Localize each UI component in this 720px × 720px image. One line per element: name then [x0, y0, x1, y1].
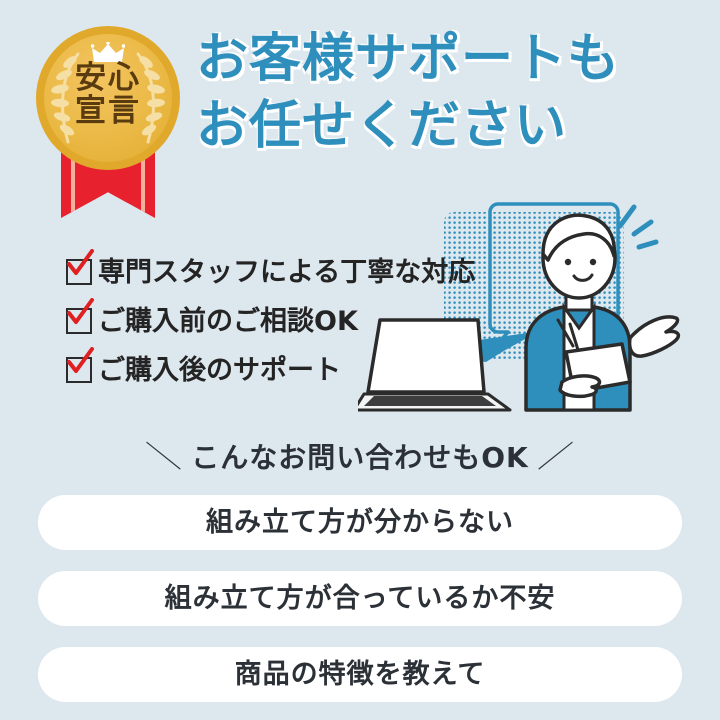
feature-checklist: 専門スタッフによる丁寧な対応 ご購入前のご相談OK ご購入後のサポート	[66, 250, 536, 397]
checklist-item-label: ご購入前のご相談OK	[98, 308, 358, 335]
checkbox-checked-icon	[66, 357, 92, 383]
list-item-label: 商品の特徴を教えて	[235, 661, 486, 688]
page-title: お客様サポートも お任せください	[196, 26, 708, 159]
checklist-item: 専門スタッフによる丁寧な対応	[66, 250, 536, 294]
badge-text: 安心 宣言	[36, 62, 180, 129]
list-item: 組み立て方が合っているか不安	[38, 571, 682, 626]
idea-sparkle-icon	[620, 207, 656, 247]
checkbox-checked-icon	[66, 259, 92, 285]
checklist-item-label: ご購入後のサポート	[98, 357, 341, 384]
inquiry-subheading-text: こんなお問い合わせもOK	[191, 441, 529, 474]
slash-left: ＼	[131, 432, 197, 476]
list-item: 組み立て方が分からない	[38, 495, 682, 550]
support-banner: 安心 宣言 お客様サポートも お任せください	[0, 0, 720, 720]
inquiry-subheading: ＼こんなお問い合わせもOK／	[0, 432, 720, 476]
headline-line-2: お任せください	[196, 93, 708, 160]
slash-right: ／	[523, 432, 589, 476]
checkbox-checked-icon	[66, 308, 92, 334]
checklist-item: ご購入前のご相談OK	[66, 299, 536, 343]
checklist-item: ご購入後のサポート	[66, 348, 536, 392]
checklist-item-label: 専門スタッフによる丁寧な対応	[98, 259, 475, 286]
badge-coin: 安心 宣言	[36, 26, 180, 170]
badge-line-2: 宣言	[36, 95, 180, 128]
list-item-label: 組み立て方が合っているか不安	[165, 585, 556, 612]
headline-line-1: お客様サポートも	[196, 26, 708, 93]
anshin-badge: 安心 宣言	[28, 18, 188, 218]
list-item-label: 組み立て方が分からない	[206, 509, 514, 536]
inquiry-examples-list: 組み立て方が分からない 組み立て方が合っているか不安 商品の特徴を教えて	[38, 495, 682, 720]
list-item: 商品の特徴を教えて	[38, 647, 682, 702]
badge-line-1: 安心	[36, 62, 180, 95]
